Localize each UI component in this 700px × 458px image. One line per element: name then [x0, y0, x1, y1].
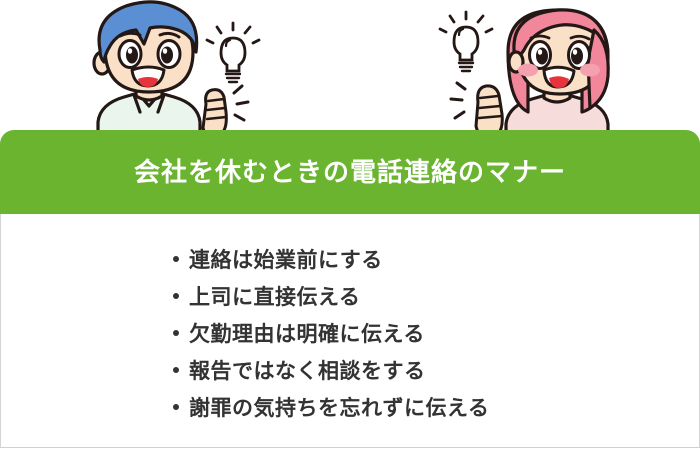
lightbulb-icon	[207, 23, 259, 82]
list-item: 報告ではなく相談をする	[173, 361, 489, 382]
list-item: 欠勤理由は明確に伝える	[173, 324, 489, 345]
list-item-label: 連絡は始業前にする	[189, 250, 383, 271]
bullet-icon	[173, 293, 179, 299]
list-item: 連絡は始業前にする	[173, 250, 489, 271]
list-item-label: 上司に直接伝える	[189, 287, 360, 308]
blush-right	[580, 64, 600, 77]
list-item-label: 謝罪の気持ちを忘れずに伝える	[189, 398, 489, 419]
character-illustration-boy	[78, 0, 273, 140]
bullet-icon	[173, 367, 179, 373]
content-panel: 連絡は始業前にする 上司に直接伝える 欠勤理由は明確に伝える 報告ではなく相談を…	[0, 214, 700, 448]
illustration-band	[0, 0, 700, 140]
bullet-icon	[173, 404, 179, 410]
lightbulb-icon	[440, 12, 492, 71]
blush-left	[518, 64, 538, 77]
list-item: 謝罪の気持ちを忘れずに伝える	[173, 398, 489, 419]
bullet-icon	[173, 330, 179, 336]
page-title: 会社を休むときの電話連絡のマナー	[134, 159, 566, 185]
manner-list: 連絡は始業前にする 上司に直接伝える 欠勤理由は明確に伝える 報告ではなく相談を…	[173, 250, 489, 419]
header-card: 会社を休むときの電話連絡のマナー	[0, 130, 700, 214]
character-illustration-girl	[432, 0, 632, 140]
bullet-icon	[173, 256, 179, 262]
list-item-label: 報告ではなく相談をする	[189, 361, 426, 382]
list-item: 上司に直接伝える	[173, 287, 489, 308]
list-item-label: 欠勤理由は明確に伝える	[189, 324, 425, 345]
